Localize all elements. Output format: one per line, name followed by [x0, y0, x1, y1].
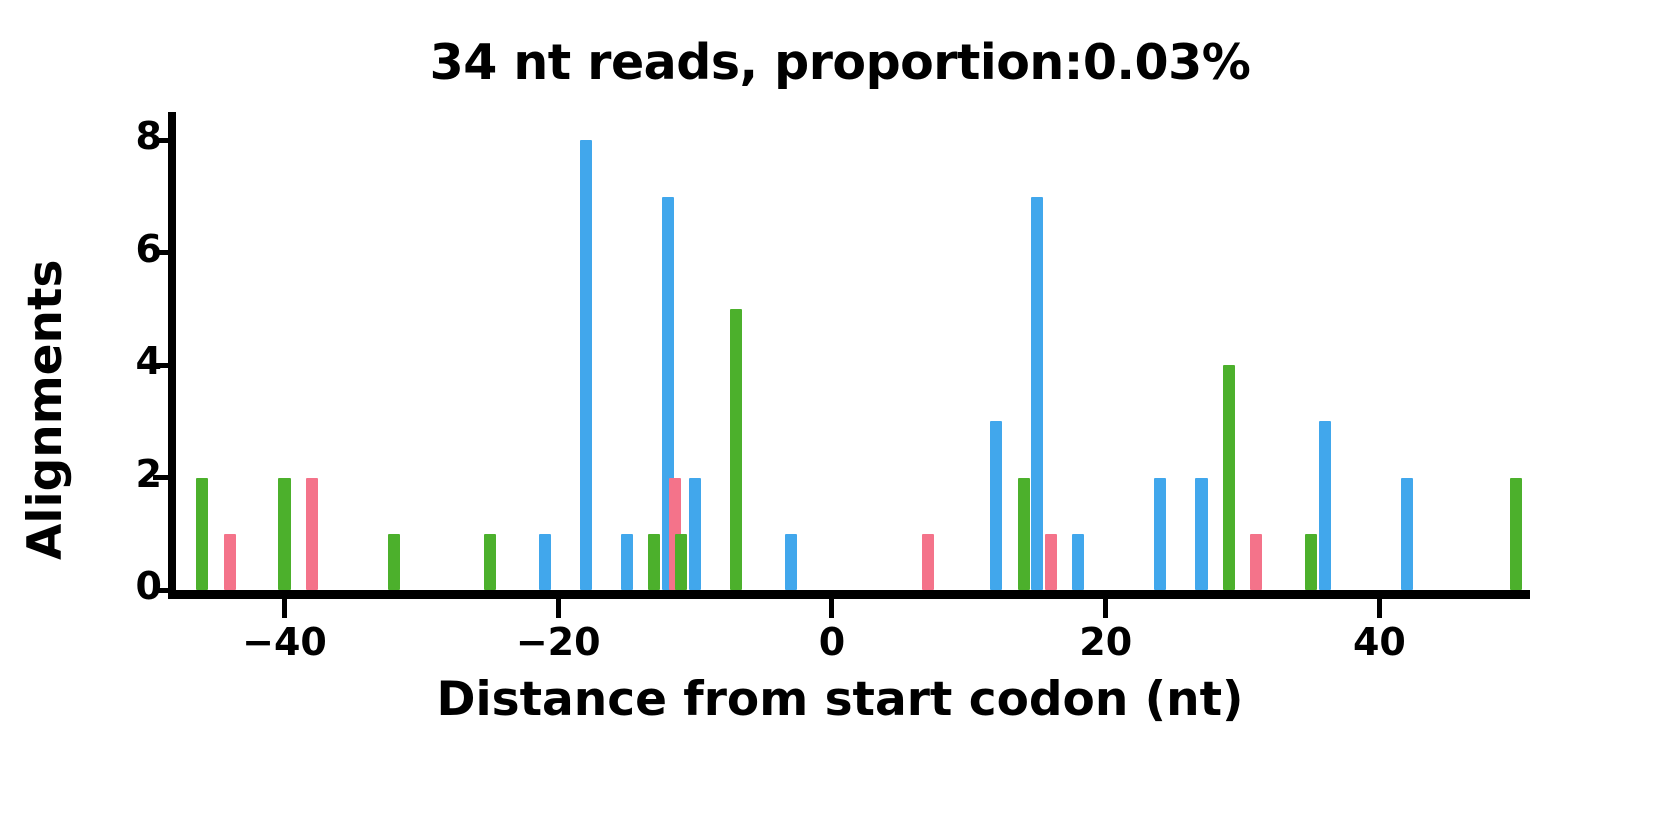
x-tick-mark	[282, 599, 287, 618]
bar	[1250, 534, 1262, 590]
bar	[621, 534, 633, 590]
bar	[388, 534, 400, 590]
bar	[306, 478, 318, 590]
x-tick-mark	[1103, 599, 1108, 618]
x-axis-title: Distance from start codon (nt)	[0, 672, 1680, 727]
bar	[689, 478, 701, 590]
bar	[1319, 421, 1331, 590]
bar	[580, 140, 592, 590]
bar	[484, 534, 496, 590]
bar	[1154, 478, 1166, 590]
y-tick-label: 8	[102, 114, 162, 158]
y-tick-label: 0	[102, 564, 162, 608]
bar	[1031, 197, 1043, 590]
x-tick-mark	[829, 599, 834, 618]
plot-area	[175, 118, 1530, 590]
x-tick-mark	[1377, 599, 1382, 618]
bar	[1510, 478, 1522, 590]
y-axis-title: Alignments	[18, 260, 73, 560]
bar	[1072, 534, 1084, 590]
x-tick-label: 40	[1319, 620, 1439, 664]
bar	[990, 421, 1002, 590]
bar	[1018, 478, 1030, 590]
bar	[1045, 534, 1057, 590]
bars-layer	[175, 118, 1530, 590]
x-tick-mark	[556, 599, 561, 618]
bar	[922, 534, 934, 590]
y-tick-label: 6	[102, 227, 162, 271]
x-tick-label: 20	[1046, 620, 1166, 664]
bar	[1401, 478, 1413, 590]
bar	[675, 534, 687, 590]
x-tick-label: −20	[498, 620, 618, 664]
bar	[730, 309, 742, 590]
y-tick-label: 4	[102, 339, 162, 383]
bar	[539, 534, 551, 590]
bar	[648, 534, 660, 590]
bar	[1195, 478, 1207, 590]
bar	[224, 534, 236, 590]
y-tick-label: 2	[102, 452, 162, 496]
bar	[196, 478, 208, 590]
bar	[1305, 534, 1317, 590]
bar	[785, 534, 797, 590]
chart-figure: 34 nt reads, proportion:0.03% Alignments…	[0, 0, 1680, 840]
bar	[278, 478, 290, 590]
chart-title: 34 nt reads, proportion:0.03%	[0, 34, 1680, 91]
x-tick-label: −40	[224, 620, 344, 664]
x-tick-label: 0	[772, 620, 892, 664]
bar	[1223, 365, 1235, 590]
x-axis-line	[168, 590, 1530, 599]
